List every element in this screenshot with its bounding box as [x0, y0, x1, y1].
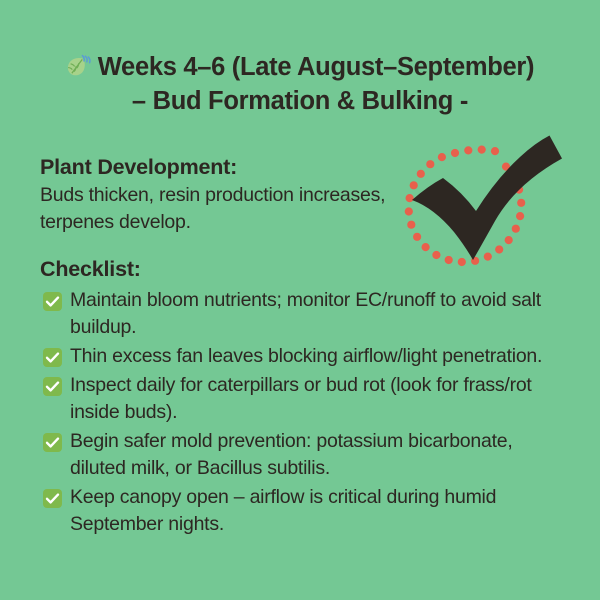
checkmark-dotted-circle-icon [396, 124, 564, 269]
list-item-label: Maintain bloom nutrients; monitor EC/run… [70, 289, 541, 338]
plant-development-body: Buds thicken, resin production increases… [40, 182, 410, 236]
checkbox-checked-icon[interactable] [43, 433, 62, 452]
checklist-section: Checklist: Maintain bloom nutrients; mon… [40, 256, 570, 540]
list-item-label: Keep canopy open – airflow is critical d… [70, 486, 496, 535]
list-item[interactable]: Inspect daily for caterpillars or bud ro… [40, 372, 570, 426]
plant-development-heading: Plant Development: [40, 154, 410, 181]
list-item-label: Thin excess fan leaves blocking airflow/… [70, 345, 542, 367]
list-item[interactable]: Maintain bloom nutrients; monitor EC/run… [40, 287, 570, 341]
checkbox-checked-icon[interactable] [43, 292, 62, 311]
checklist-heading: Checklist: [40, 256, 570, 283]
checklist-items: Maintain bloom nutrients; monitor EC/run… [40, 287, 570, 538]
title-text-1: Weeks 4–6 (Late August–September) [98, 53, 535, 81]
list-item[interactable]: Thin excess fan leaves blocking airflow/… [40, 343, 570, 370]
plant-development-section: Plant Development: Buds thicken, resin p… [40, 154, 410, 236]
title-line-2: – Bud Formation & Bulking - [0, 84, 600, 118]
list-item[interactable]: Begin safer mold prevention: potassium b… [40, 428, 570, 482]
checkbox-checked-icon[interactable] [43, 348, 62, 367]
checkbox-checked-icon[interactable] [43, 377, 62, 396]
title-line-1: Weeks 4–6 (Late August–September) [0, 50, 600, 84]
list-item-label: Inspect daily for caterpillars or bud ro… [70, 374, 532, 423]
leaf-fluttering-icon [66, 53, 92, 77]
list-item-label: Begin safer mold prevention: potassium b… [70, 430, 513, 479]
list-item[interactable]: Keep canopy open – airflow is critical d… [40, 484, 570, 538]
checkbox-checked-icon[interactable] [43, 489, 62, 508]
infographic-card: Weeks 4–6 (Late August–September) – Bud … [0, 0, 600, 600]
page-title: Weeks 4–6 (Late August–September) – Bud … [0, 50, 600, 118]
